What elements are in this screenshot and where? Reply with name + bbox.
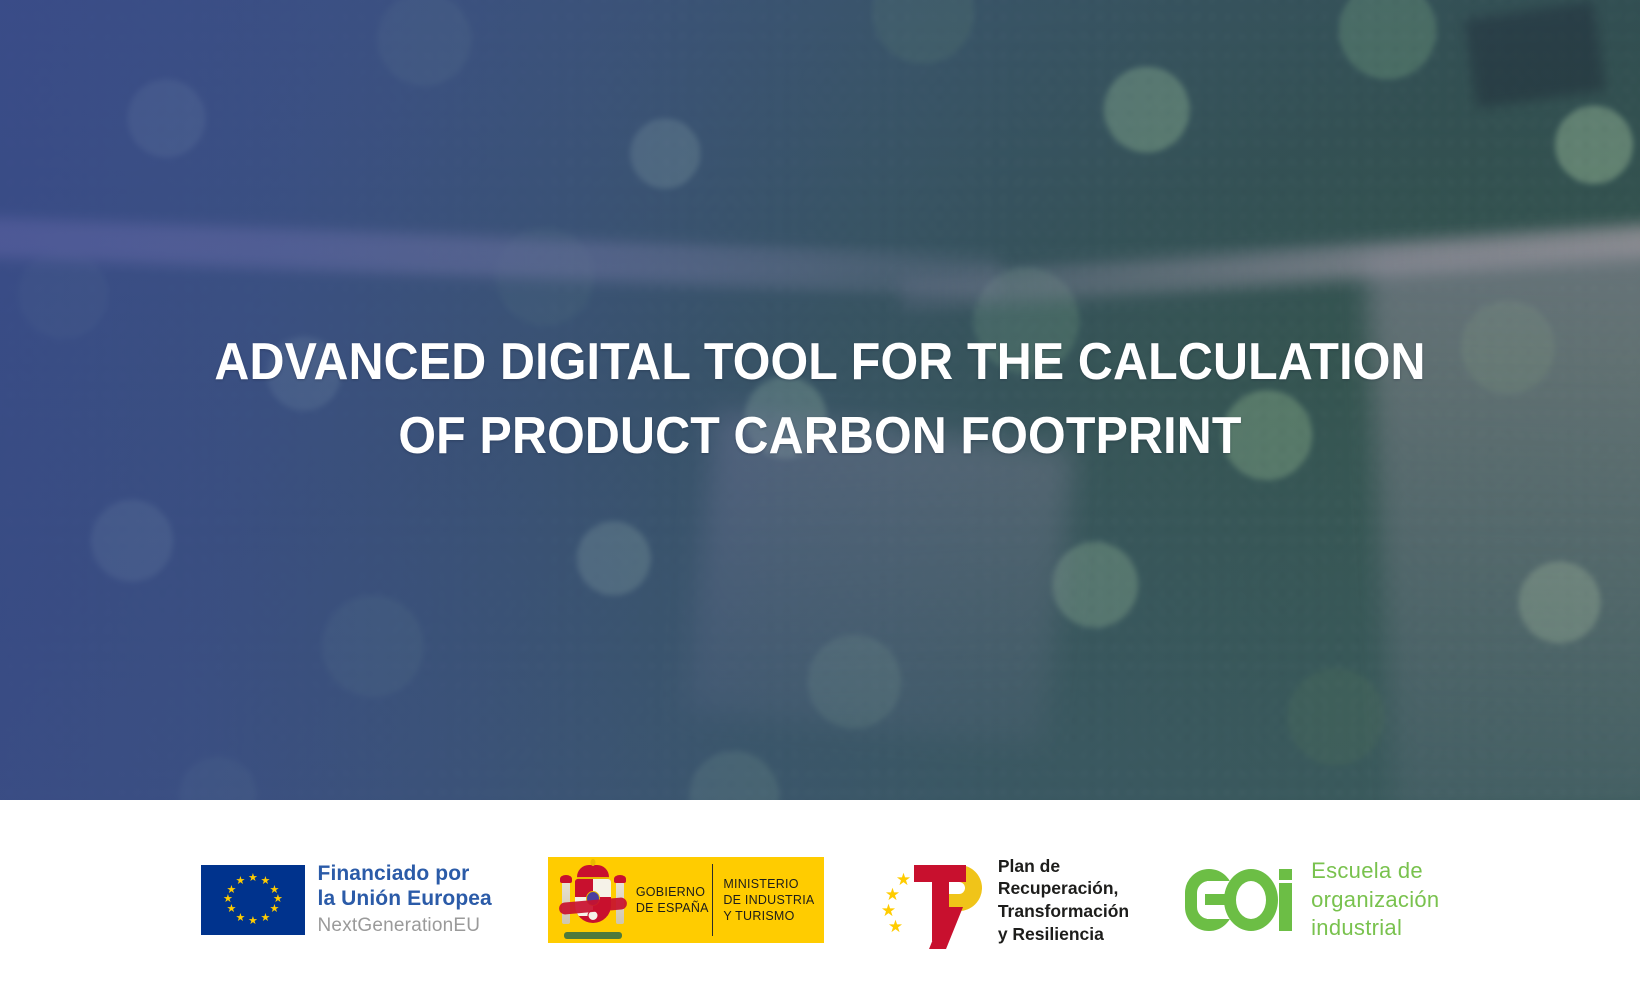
page-title: ADVANCED DIGITAL TOOL FOR THE CALCULATIO… [169,326,1471,474]
ministerio-block: MINISTERIO DE INDUSTRIA Y TURISMO [713,857,824,943]
eu-flag-icon: ★ ★ ★ ★ ★ ★ ★ ★ ★ ★ ★ ★ [201,865,305,935]
page-title-line-1: ADVANCED DIGITAL TOOL FOR THE CALCULATIO… [214,333,1425,391]
eu-star-icon: ★ [236,914,245,923]
ministerio-line-2: DE INDUSTRIA [723,892,814,908]
gobierno-line-2: DE ESPAÑA [636,900,709,916]
page-title-line-2: OF PRODUCT CARBON FOOTPRINT [169,400,1471,474]
ministerio-label: MINISTERIO DE INDUSTRIA Y TURISMO [723,876,814,925]
spain-coat-of-arms-icon [556,860,630,940]
logo-plan-de-recuperacion: ★ ★ ★ ★ Plan de Recuperación, Transforma… [880,853,1129,947]
eoi-line-1: Escuela de [1311,857,1439,886]
eu-star-icon: ★ [248,917,257,926]
eu-star-icon: ★ [227,886,236,895]
logo-european-union: ★ ★ ★ ★ ★ ★ ★ ★ ★ ★ ★ ★ Financiado por l… [201,861,492,939]
gobierno-block: GOBIERNO DE ESPAÑA [548,857,712,943]
eoi-logo-text: Escuela de organización industrial [1311,857,1439,943]
logo-eoi: Escuela de organización industrial [1185,857,1439,943]
eu-logo-text: Financiado por la Unión Europea NextGene… [318,861,492,939]
eu-star-icon: ★ [236,877,245,886]
eu-star-icon: ★ [261,914,270,923]
prtr-stars-icon: ★ ★ ★ ★ [880,871,914,933]
ministerio-line-1: MINISTERIO [723,876,814,892]
ministerio-line-3: Y TURISMO [723,908,814,924]
hero-banner: ADVANCED DIGITAL TOOL FOR THE CALCULATIO… [0,0,1640,800]
eu-star-icon: ★ [223,895,232,904]
prtr-logo-text: Plan de Recuperación, Transformación y R… [998,855,1129,946]
prtr-line-2: Recuperación, [998,877,1129,900]
eoi-line-2: organización [1311,886,1439,915]
eu-star-icon: ★ [270,905,279,914]
gobierno-label: GOBIERNO DE ESPAÑA [636,884,709,917]
eoi-line-3: industrial [1311,914,1439,943]
prtr-star-icon: ★ [888,918,903,935]
eu-star-icon: ★ [261,877,270,886]
presentation-slide: ADVANCED DIGITAL TOOL FOR THE CALCULATIO… [0,0,1640,1000]
prtr-line-1: Plan de [998,855,1129,878]
gobierno-line-1: GOBIERNO [636,884,709,900]
funding-logo-bar: ★ ★ ★ ★ ★ ★ ★ ★ ★ ★ ★ ★ Financiado por l… [0,800,1640,1000]
prtr-line-4: y Resiliencia [998,923,1129,946]
prtr-line-3: Transformación [998,900,1129,923]
hero-title-container: ADVANCED DIGITAL TOOL FOR THE CALCULATIO… [0,0,1640,800]
eu-text-line-2: la Unión Europea [318,886,492,911]
eoi-monogram-icon [1185,869,1297,931]
prtr-tr-monogram-icon: ★ ★ ★ ★ [880,853,984,947]
eu-star-icon: ★ [227,905,236,914]
eu-star-icon: ★ [248,874,257,883]
logo-gobierno-de-espana: GOBIERNO DE ESPAÑA MINISTERIO DE INDUSTR… [548,857,824,943]
eu-nextgeneration-label: NextGenerationEU [318,913,492,939]
eu-text-line-1: Financiado por [318,861,492,886]
